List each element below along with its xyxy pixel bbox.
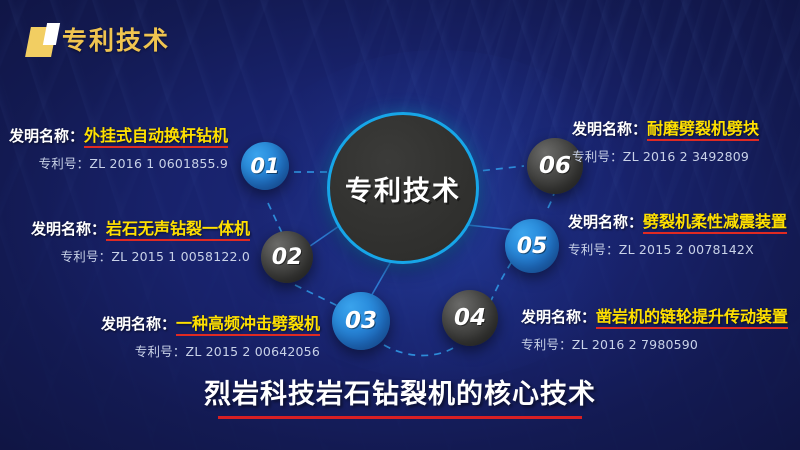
item-label-06: 发明名称：耐磨劈裂机劈块 专利号：ZL 2016 2 3492809 [572,115,759,165]
bottom-title-text: 烈岩科技岩石钻裂机的核心技术 [204,372,596,411]
node-04-number: 04 [454,305,486,331]
node-02[interactable]: 02 [261,231,313,283]
node-05[interactable]: 05 [505,219,559,273]
item-01-prefix: 发明名称： [9,127,84,145]
item-02-name: 岩石无声钻裂一体机 [106,219,250,241]
node-04[interactable]: 04 [442,290,498,346]
item-label-01: 发明名称：外挂式自动换杆钻机 专利号：ZL 2016 1 0601855.9 [0,122,228,172]
item-03-prefix: 发明名称： [101,315,176,333]
bottom-title-block: 烈岩科技岩石钻裂机的核心技术 [0,372,800,419]
center-node[interactable]: 专利技术 [327,112,479,264]
dash-02-03 [295,285,340,307]
item-03-name: 一种高频冲击劈裂机 [176,314,320,336]
item-label-03: 发明名称：一种高频冲击劈裂机 专利号：ZL 2015 2 00642056 [60,310,320,360]
item-label-04: 发明名称：凿岩机的链轮提升传动装置 专利号：ZL 2016 2 7980590 [521,303,788,353]
node-01-number: 01 [250,154,279,178]
item-06-name: 耐磨劈裂机劈块 [647,119,759,141]
dash-center-06 [470,166,524,172]
item-01-name: 外挂式自动换杆钻机 [84,126,228,148]
node-06-number: 06 [539,153,571,179]
item-06-prefix: 发明名称： [572,120,647,138]
center-node-label: 专利技术 [345,169,461,208]
dash-04-05 [490,258,514,303]
item-05-name: 劈裂机柔性减震装置 [643,212,787,234]
dash-03-04 [384,345,458,356]
node-03-number: 03 [345,308,377,334]
item-05-prefix: 发明名称： [568,213,643,231]
item-04-patent: 专利号：ZL 2016 2 7980590 [521,334,788,353]
item-label-05: 发明名称：劈裂机柔性减震装置 专利号：ZL 2015 2 0078142X [568,208,787,258]
item-05-patent: 专利号：ZL 2015 2 0078142X [568,239,787,258]
item-02-prefix: 发明名称： [31,220,106,238]
bottom-title-underline [218,416,582,419]
item-01-patent: 专利号：ZL 2016 1 0601855.9 [0,153,228,172]
dash-01-02 [268,203,282,233]
item-04-name: 凿岩机的链轮提升传动装置 [596,307,788,329]
slide-canvas: 专利技术 专利技术 01 02 03 04 [0,0,800,450]
item-04-prefix: 发明名称： [521,308,596,326]
item-03-patent: 专利号：ZL 2015 2 00642056 [60,341,320,360]
node-03[interactable]: 03 [332,292,390,350]
node-02-number: 02 [272,245,303,270]
item-label-02: 发明名称：岩石无声钻裂一体机 专利号：ZL 2015 1 0058122.0 [0,215,250,265]
item-02-patent: 专利号：ZL 2015 1 0058122.0 [0,246,250,265]
item-06-patent: 专利号：ZL 2016 2 3492809 [572,146,759,165]
node-01[interactable]: 01 [241,142,289,190]
node-05-number: 05 [517,234,548,259]
